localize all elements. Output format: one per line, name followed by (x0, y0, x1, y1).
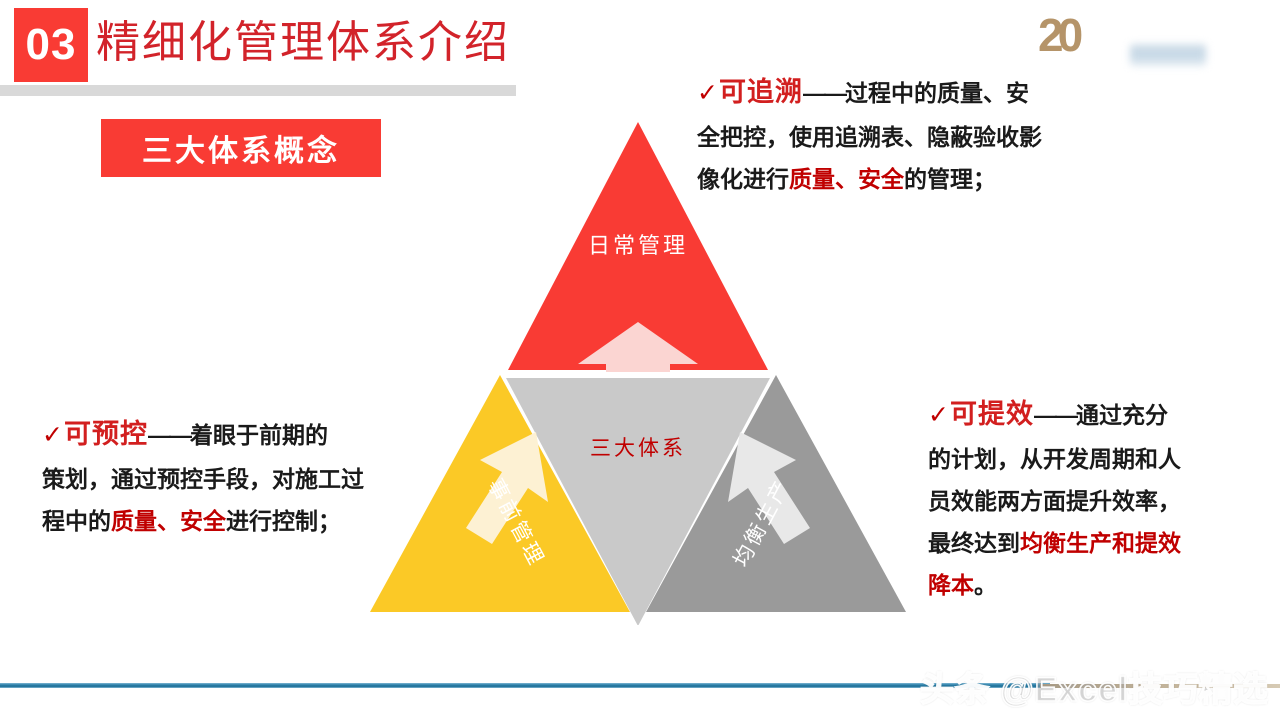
preventive-line-2: 策划，通过预控手段，对施工过 (42, 459, 364, 501)
anniversary-logo: 20 th (1038, 12, 1238, 74)
text-block-traceable: ✓可追溯——过程中的质量、安 全把控，使用追溯表、隐蔽验收影 像化进行质量、安全… (697, 68, 1042, 201)
blurred-brand-mark (1130, 44, 1206, 66)
efficiency-line-2: 的计划，从开发周期和人 (928, 439, 1181, 481)
preventive-line2-text: 策划，通过预控手段，对施工过 (42, 466, 364, 492)
footer-rule-blue (0, 683, 1050, 688)
efficiency-dash: —— (1034, 402, 1076, 428)
concept-badge: 三大体系概念 (101, 119, 381, 177)
traceable-line-3: 像化进行质量、安全的管理； (697, 159, 1042, 201)
traceable-line2-text: 全把控，使用追溯表、隐蔽验收影 (697, 124, 1042, 150)
concept-badge-label: 三大体系概念 (142, 126, 340, 170)
section-number: 03 (26, 23, 77, 67)
traceable-line3-b: 的管理； (904, 166, 996, 192)
preventive-lead: 可预控 (64, 419, 148, 449)
preventive-keyword-quality: 质量、 (111, 508, 180, 534)
traceable-lead: 可追溯 (719, 77, 803, 107)
efficiency-lead: 可提效 (950, 399, 1034, 429)
logo-number: 20 (1038, 12, 1077, 58)
traceable-keyword-safety: 安全 (858, 166, 904, 192)
efficiency-line4-a: 最终达到 (928, 530, 1020, 556)
logo-suffix: th (1096, 34, 1107, 49)
check-icon: ✓ (42, 420, 63, 449)
preventive-dash: —— (148, 422, 190, 448)
efficiency-line5-b: 。 (974, 572, 997, 598)
efficiency-line-3: 员效能两方面提升效率， (928, 481, 1181, 523)
traceable-line-1: ✓可追溯——过程中的质量、安 (697, 68, 1042, 117)
text-block-efficiency: ✓可提效——通过充分 的计划，从开发周期和人 员效能两方面提升效率， 最终达到均… (928, 390, 1181, 607)
efficiency-line2-text: 的计划，从开发周期和人 (928, 446, 1181, 472)
watermark: 头条 @Excel技巧精选 (920, 662, 1268, 711)
efficiency-line3-text: 员效能两方面提升效率， (928, 488, 1181, 514)
efficiency-line-4: 最终达到均衡生产和提效 (928, 523, 1181, 565)
slide-canvas: 03 精细化管理体系介绍 20 th 三大体系概念 日常管理 三大体系 (0, 0, 1280, 720)
header-underline-bar (0, 85, 516, 96)
traceable-dash: —— (803, 80, 845, 106)
section-number-box: 03 (14, 8, 88, 82)
page-title: 精细化管理体系介绍 (96, 10, 510, 76)
efficiency-line-5: 降本。 (928, 565, 1181, 607)
efficiency-line1-rest: 通过充分 (1076, 402, 1168, 428)
traceable-line3-a: 像化进行 (697, 166, 789, 192)
check-icon: ✓ (697, 78, 718, 107)
efficiency-keyword-balanced: 均衡生产和提效 (1020, 530, 1181, 556)
check-icon: ✓ (928, 400, 949, 429)
traceable-line-2: 全把控，使用追溯表、隐蔽验收影 (697, 117, 1042, 159)
preventive-line-3: 程中的质量、安全进行控制； (42, 501, 364, 543)
center-triangle-label: 三大体系 (590, 436, 686, 460)
preventive-line1-rest: 着眼于前期的 (190, 422, 328, 448)
efficiency-keyword-costdown: 降本 (928, 572, 974, 598)
efficiency-line-1: ✓可提效——通过充分 (928, 390, 1181, 439)
traceable-keyword-quality: 质量、 (789, 166, 858, 192)
preventive-line3-b: 进行控制； (226, 508, 341, 534)
traceable-line1-rest: 过程中的质量、安 (845, 80, 1029, 106)
preventive-line3-a: 程中的 (42, 508, 111, 534)
top-triangle-label: 日常管理 (588, 233, 688, 258)
text-block-preventive: ✓可预控——着眼于前期的 策划，通过预控手段，对施工过 程中的质量、安全进行控制… (42, 410, 364, 543)
preventive-keyword-safety: 安全 (180, 508, 226, 534)
preventive-line-1: ✓可预控——着眼于前期的 (42, 410, 364, 459)
